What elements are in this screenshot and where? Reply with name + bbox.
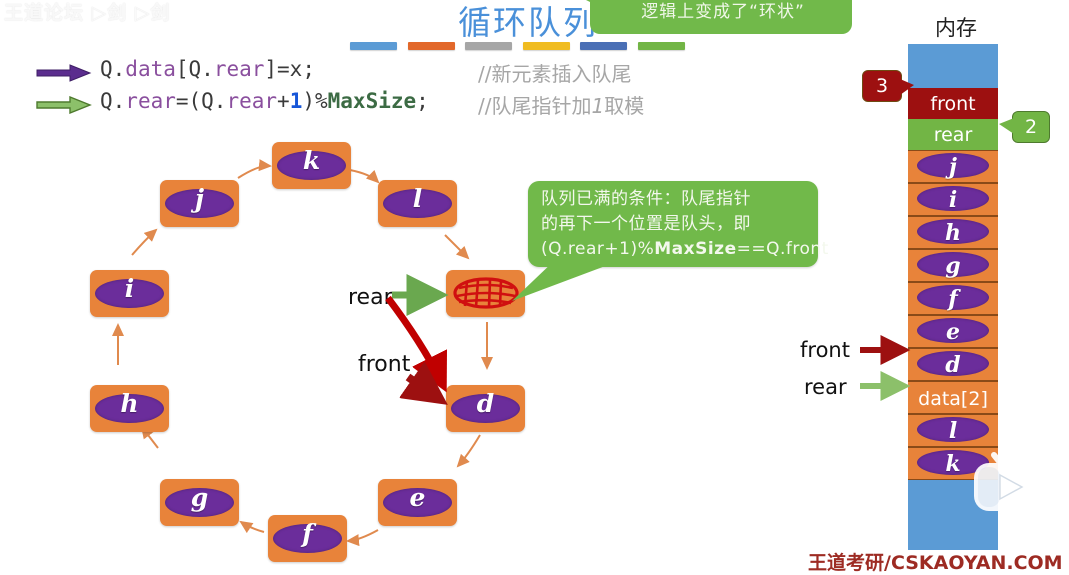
rear-index-value: 2 (1025, 116, 1037, 138)
code-comment-1: //新元素插入队尾 (478, 58, 631, 87)
memory-rear-text: rear (908, 124, 998, 146)
cell-label: h (90, 389, 169, 418)
memory-cell-l: l (908, 414, 998, 447)
cell-label: l (378, 184, 457, 213)
memory-cell-label: h (908, 220, 998, 246)
ring-cell-h: h (90, 385, 169, 432)
memory-rear-row: rear (908, 119, 998, 150)
cell-label: i (90, 274, 169, 303)
queue-full-callout: 队列已满的条件：队尾指针 的再下一个位置是队头，即 (Q.rear+1)%Max… (528, 181, 818, 267)
callout-tail (512, 259, 642, 307)
top-bubble-line2: 逻辑上变成了“环状” (600, 0, 846, 25)
memory-rear-label: rear (804, 375, 847, 399)
memory-front-row: front (908, 88, 998, 119)
cell-label: e (378, 483, 457, 512)
cell-label: j (160, 184, 239, 213)
ring-cell-f: f (268, 515, 347, 562)
memory-cell-f: f (908, 282, 998, 315)
bubble-tail (568, 0, 592, 3)
code-line-1: Q.data[Q.rear]=x; //新元素插入队尾 (36, 58, 796, 90)
play-button-logo (968, 447, 1042, 519)
code-text-1: Q.data[Q.rear]=x; (100, 57, 315, 81)
memory-cell-h: h (908, 216, 998, 249)
front-index-value: 3 (876, 75, 888, 97)
rear-index-badge: 2 (1012, 111, 1050, 143)
callout-line2: 的再下一个位置是队头，即 (541, 212, 807, 237)
memory-cell-label: d (908, 352, 998, 378)
callout-line3-c: ==Q.front (737, 239, 829, 259)
ring-pointer-arrows (330, 265, 530, 415)
code-line-2: Q.rear=(Q.rear+1)%MaxSize; //队尾指针加1取模 (36, 90, 796, 122)
callout-text: 队列已满的条件：队尾指针 的再下一个位置是队头，即 (Q.rear+1)%Max… (541, 187, 807, 262)
ring-cell-e: e (378, 479, 457, 526)
watermark-top-left: 王道论坛 ▷剑 ▷剑 (4, 0, 190, 22)
code-text-2: Q.rear=(Q.rear+1)%MaxSize; (100, 89, 429, 113)
memory-cell-label: l (908, 418, 998, 444)
code-block: Q.data[Q.rear]=x; //新元素插入队尾 Q.rear=(Q.re… (36, 58, 796, 122)
watermark-bottom: 王道考研/CSKAOYAN.COM (808, 548, 1068, 572)
memory-cell-j: j (908, 150, 998, 183)
color-bar-3 (465, 42, 512, 50)
color-bar-row (350, 42, 695, 51)
memory-cell-g: g (908, 249, 998, 282)
front-index-badge: 3 (862, 70, 902, 102)
slide-canvas: 王道论坛 ▷剑 ▷剑 循环队列 用模运算将存储空间在 逻辑上变成了“环状” Q.… (0, 0, 1069, 569)
callout-line3-a: (Q.rear+1)% (541, 239, 654, 259)
cell-label: g (160, 483, 239, 512)
page-title: 循环队列 (458, 0, 598, 44)
memory-title: 内存 (906, 12, 1006, 42)
memory-cell-i: i (908, 183, 998, 216)
color-bar-5 (580, 42, 627, 50)
memory-empty-slot (908, 44, 998, 88)
color-bar-1 (350, 42, 397, 50)
memory-front-label: front (800, 338, 850, 362)
memory-cell-label: g (908, 253, 998, 279)
memory-cell-d: d (908, 348, 998, 381)
green-arrow-icon (36, 96, 92, 114)
ring-cell-l: l (378, 180, 457, 227)
memory-cell-e: e (908, 315, 998, 348)
memory-cell-label: e (908, 319, 998, 345)
memory-front-text: front (908, 93, 998, 115)
cell-label: f (268, 519, 347, 548)
purple-arrow-icon (36, 64, 92, 82)
ring-cell-i: i (90, 270, 169, 317)
top-bubble-text: 用模运算将存储空间在 逻辑上变成了“环状” (600, 0, 846, 25)
top-speech-bubble: 用模运算将存储空间在 逻辑上变成了“环状” (590, 0, 852, 34)
color-bar-4 (523, 42, 570, 50)
ring-cell-j: j (160, 180, 239, 227)
memory-cell-label: j (908, 154, 998, 180)
badge-tail (999, 118, 1014, 134)
cell-label: k (272, 146, 351, 175)
memory-cell-label: i (908, 187, 998, 213)
ring-cell-g: g (160, 479, 239, 526)
color-bar-6 (638, 42, 685, 50)
callout-line1: 队列已满的条件：队尾指针 (541, 187, 807, 212)
memory-cell-label: f (908, 286, 998, 312)
badge-tail (900, 79, 914, 95)
callout-line3-b: MaxSize (654, 239, 736, 259)
code-comment-2: //队尾指针加1取模 (478, 90, 644, 119)
color-bar-2 (408, 42, 455, 50)
memory-cell-data[2]: data[2] (908, 381, 998, 414)
ring-cell-k: k (272, 142, 351, 189)
memory-cell-text: data[2] (908, 388, 998, 410)
memory-pointer-arrows (858, 330, 918, 410)
